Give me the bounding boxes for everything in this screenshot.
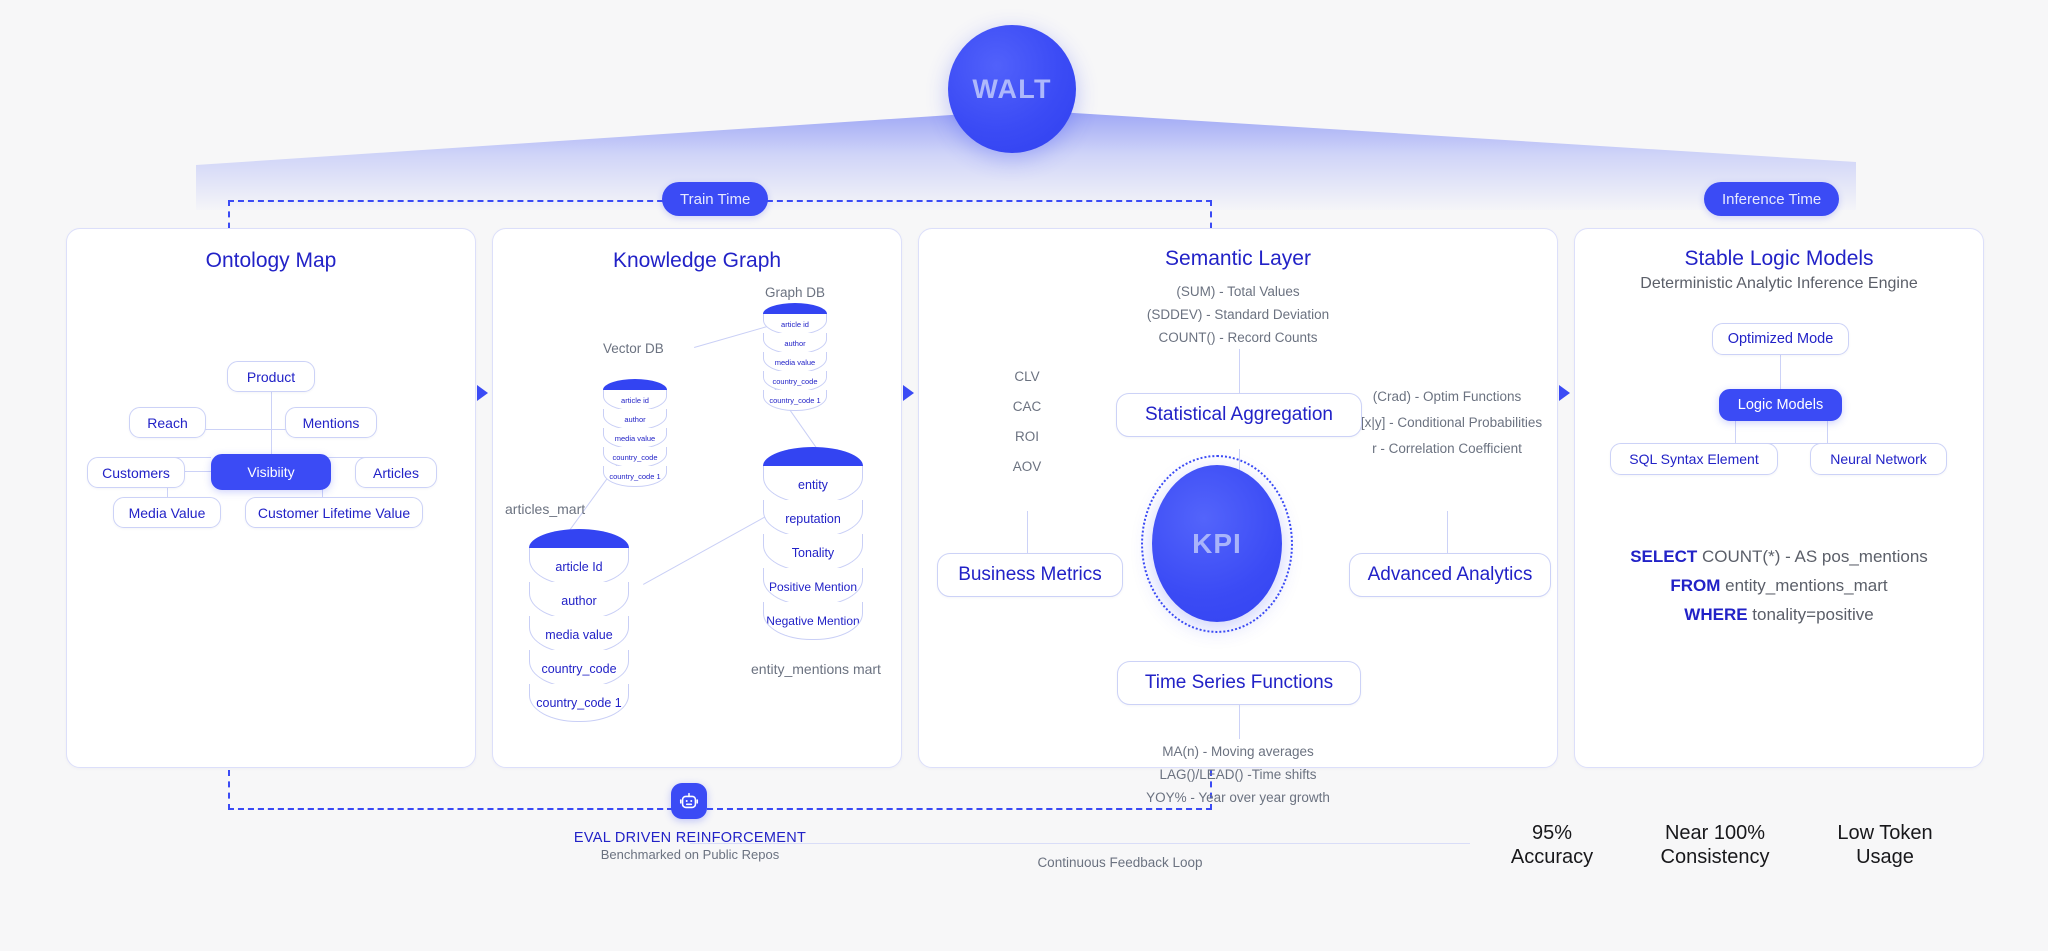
advanced-function-item: r - Correlation Coefficient [1319,441,1575,456]
ontology-node-customer-lifetime-value[interactable]: Customer Lifetime Value [245,497,423,528]
cylinder-graph-db: article id author media value country_co… [763,303,827,407]
business-metric-item: AOV [987,459,1067,474]
train-time-pill[interactable]: Train Time [662,182,768,216]
cylinder-row: author [529,582,629,620]
connector [1447,511,1448,553]
ontology-node-mentions[interactable]: Mentions [285,407,377,438]
sql-keyword-from: FROM [1670,576,1720,595]
node-statistical-aggregation[interactable]: Statistical Aggregation [1116,393,1362,437]
time-function-line: MA(n) - Moving averages [919,744,1557,759]
stat-label: Usage [1790,846,1980,870]
cylinder-row: country_code 1 [529,684,629,722]
kpi-sphere: KPI [1152,465,1282,622]
cylinder-row: reputation [763,500,863,538]
cylinder-row: Positive Mention [763,568,863,606]
connector [1827,421,1828,443]
connector [1027,511,1028,553]
entity-mentions-caption: entity_mentions mart [751,661,881,677]
graph-db-caption: Graph DB [765,285,825,300]
connector [643,516,766,585]
node-time-series-functions[interactable]: Time Series Functions [1117,661,1361,705]
connector [271,392,272,456]
sql-line-where: WHERE tonality=positive [1575,605,1983,625]
sql-keyword-select: SELECT [1630,547,1697,566]
cylinder-row: article Id [529,548,629,586]
cylinder-entity-mentions: entity reputation Tonality Positive Ment… [763,447,863,647]
cylinder-row: country_code [603,447,667,468]
continuous-feedback-loop-label: Continuous Feedback Loop [960,855,1280,870]
ontology-map-title: Ontology Map [67,249,475,273]
cylinder-row: entity [763,466,863,504]
ontology-node-reach[interactable]: Reach [129,407,206,438]
cylinder-articles-mart: article Id author media value country_co… [529,529,629,729]
feedback-divider [690,843,1470,844]
time-function-line: YOY% - Year over year growth [919,790,1557,805]
robot-icon [671,783,707,819]
ontology-node-media-value[interactable]: Media Value [113,497,221,528]
business-metric-item: CLV [987,369,1067,384]
ontology-node-customers[interactable]: Customers [87,457,185,488]
time-function-line: LAG()/LEAD() -Time shifts [919,767,1557,782]
node-advanced-analytics[interactable]: Advanced Analytics [1349,553,1551,597]
node-business-metrics[interactable]: Business Metrics [937,553,1123,597]
agg-function-line: COUNT() - Record Counts [919,330,1557,345]
connector [1239,349,1240,393]
cylinder-row: article id [763,314,827,335]
cylinder-row: media value [603,428,667,449]
cylinder-row: media value [529,616,629,654]
cylinder-row: media value [763,352,827,373]
sql-line-from: FROM entity_mentions_mart [1575,576,1983,596]
diagram-canvas: WALT Train Time Inference Time Ontology … [0,0,2048,951]
agg-function-line: (SDDEV) - Standard Deviation [919,307,1557,322]
node-logic-models[interactable]: Logic Models [1719,389,1842,421]
sql-text: entity_mentions_mart [1720,576,1887,595]
semantic-layer-title: Semantic Layer [919,247,1557,271]
cylinder-row: author [763,333,827,354]
arrow-right-icon [477,385,488,401]
ontology-node-product[interactable]: Product [227,361,315,392]
panel-stable-logic-models: Stable Logic Models Deterministic Analyt… [1574,228,1984,768]
stat-label: Consistency [1620,846,1810,870]
articles-mart-caption: articles_mart [505,501,585,517]
cylinder-row: Negative Mention [763,602,863,640]
cylinder-row: Tonality [763,534,863,572]
cylinder-row: country_code [529,650,629,688]
stat-label: Accuracy [1457,846,1647,870]
agg-function-line: (SUM) - Total Values [919,284,1557,299]
cylinder-vector-db: article id author media value country_co… [603,379,667,483]
connector [1239,705,1240,739]
arrow-right-icon [903,385,914,401]
stat-value: Low Token [1790,822,1980,846]
cylinder-row: article id [603,390,667,411]
walt-logo-sphere: WALT [948,25,1076,153]
stable-logic-models-subtitle: Deterministic Analytic Inference Engine [1575,275,1983,293]
stat-accuracy: 95% Accuracy [1457,822,1647,869]
ontology-node-visibility[interactable]: Visibiity [211,454,331,490]
node-sql-syntax-element[interactable]: SQL Syntax Element [1610,443,1778,475]
kpi-label: KPI [1192,528,1242,560]
panel-knowledge-graph: Knowledge Graph Graph DB article id auth… [492,228,902,768]
node-optimized-mode[interactable]: Optimized Mode [1712,323,1849,355]
sql-text: COUNT(*) - AS pos_mentions [1697,547,1928,566]
business-metric-item: CAC [987,399,1067,414]
feedback-dashed-line [228,808,1212,810]
connector [1735,421,1736,443]
ontology-node-articles[interactable]: Articles [355,457,437,488]
cylinder-row: country_code 1 [763,390,827,411]
eval-driven-reinforcement-subtitle: Benchmarked on Public Repos [520,847,860,862]
cylinder-row: author [603,409,667,430]
business-metric-item: ROI [987,429,1067,444]
knowledge-graph-title: Knowledge Graph [493,249,901,273]
inference-time-pill[interactable]: Inference Time [1704,182,1839,216]
sql-text: tonality=positive [1748,605,1874,624]
vector-db-caption: Vector DB [603,341,664,356]
panel-ontology-map: Ontology Map Product Reach Mentions Cust… [66,228,476,768]
cylinder-row: country_code [763,371,827,392]
stat-value: Near 100% [1620,822,1810,846]
stat-token-usage: Low Token Usage [1790,822,1980,869]
node-neural-network[interactable]: Neural Network [1810,443,1947,475]
sql-line-select: SELECT COUNT(*) - AS pos_mentions [1575,547,1983,567]
stable-logic-models-title: Stable Logic Models [1575,247,1983,271]
stat-consistency: Near 100% Consistency [1620,822,1810,869]
walt-label: WALT [972,74,1051,105]
cylinder-row: country_code 1 [603,466,667,487]
stat-value: 95% [1457,822,1647,846]
sql-keyword-where: WHERE [1684,605,1747,624]
